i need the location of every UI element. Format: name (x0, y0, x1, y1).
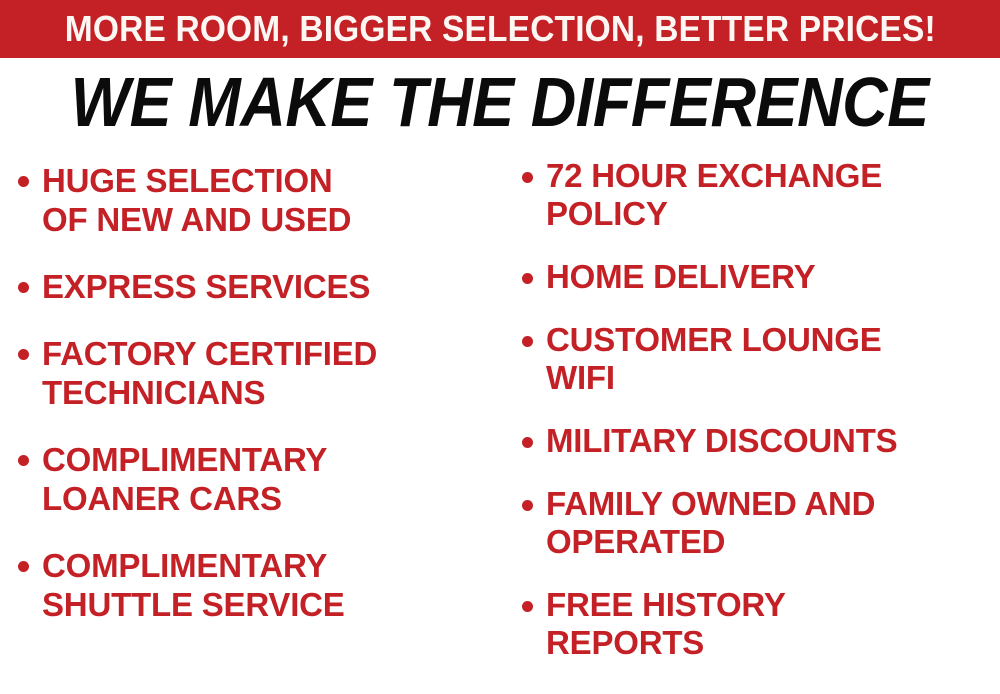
list-item-label: COMPLIMENTARY LOANER CARS (42, 440, 327, 518)
list-item-label: CUSTOMER LOUNGE WIFI (546, 321, 882, 397)
list-item: HUGE SELECTION OF NEW AND USED (18, 161, 500, 239)
list-item: FACTORY CERTIFIED TECHNICIANS (18, 334, 500, 412)
bullet-dot-icon (18, 282, 29, 293)
bullet-dot-icon (522, 273, 533, 284)
top-banner: MORE ROOM, BIGGER SELECTION, BETTER PRIC… (0, 0, 1000, 58)
bullet-dot-icon (18, 455, 29, 466)
list-item-label: HUGE SELECTION OF NEW AND USED (42, 161, 351, 239)
bullet-dot-icon (522, 601, 533, 612)
bullet-dot-icon (18, 176, 29, 187)
list-item-label: HOME DELIVERY (546, 258, 815, 296)
list-item: CUSTOMER LOUNGE WIFI (522, 321, 1000, 397)
bullet-dot-icon (522, 500, 533, 511)
benefits-column-right: 72 HOUR EXCHANGE POLICY HOME DELIVERY CU… (500, 150, 1000, 662)
headline-container: WE MAKE THE DIFFERENCE (0, 64, 1000, 140)
list-item: COMPLIMENTARY SHUTTLE SERVICE (18, 546, 500, 624)
page-title: WE MAKE THE DIFFERENCE (71, 67, 929, 137)
list-item: HOME DELIVERY (522, 258, 1000, 296)
list-item: EXPRESS SERVICES (18, 267, 500, 306)
list-item: FAMILY OWNED AND OPERATED (522, 485, 1000, 561)
bullet-dot-icon (522, 437, 533, 448)
promo-poster: MORE ROOM, BIGGER SELECTION, BETTER PRIC… (0, 0, 1000, 694)
list-item: MILITARY DISCOUNTS (522, 422, 1000, 460)
list-item: COMPLIMENTARY LOANER CARS (18, 440, 500, 518)
benefits-column-left: HUGE SELECTION OF NEW AND USED EXPRESS S… (0, 150, 500, 624)
bullet-dot-icon (522, 172, 533, 183)
benefits-columns: HUGE SELECTION OF NEW AND USED EXPRESS S… (0, 150, 1000, 694)
list-item: FREE HISTORY REPORTS (522, 586, 1000, 662)
list-item-label: FREE HISTORY REPORTS (546, 586, 786, 662)
bullet-dot-icon (522, 336, 533, 347)
list-item-label: MILITARY DISCOUNTS (546, 422, 897, 460)
list-item-label: COMPLIMENTARY SHUTTLE SERVICE (42, 546, 345, 624)
list-item: 72 HOUR EXCHANGE POLICY (522, 157, 1000, 233)
list-item-label: 72 HOUR EXCHANGE POLICY (546, 157, 882, 233)
bullet-dot-icon (18, 561, 29, 572)
bullet-dot-icon (18, 349, 29, 360)
list-item-label: FAMILY OWNED AND OPERATED (546, 485, 875, 561)
banner-headline-text: MORE ROOM, BIGGER SELECTION, BETTER PRIC… (64, 11, 935, 47)
list-item-label: EXPRESS SERVICES (42, 267, 370, 306)
list-item-label: FACTORY CERTIFIED TECHNICIANS (42, 334, 377, 412)
